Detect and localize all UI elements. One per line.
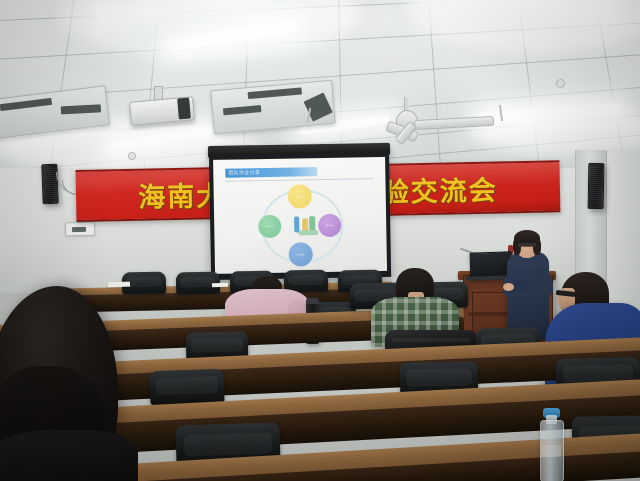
slide-title-text: 团队作业分享 — [225, 169, 260, 177]
projector-lens — [177, 98, 191, 120]
light-glow-4 — [470, 100, 640, 155]
water-bottle-label — [541, 445, 561, 457]
diagram-node-bottom: ••• — [289, 242, 313, 266]
illustration-base — [298, 230, 318, 235]
photo-scene: 海南大学土木 学经验交流会 团队作业分享 ••• ••• ••• ••• — [0, 0, 640, 481]
laptop-bag-zipper — [392, 338, 470, 342]
projection-screen: 团队作业分享 ••• ••• ••• ••• — [209, 152, 391, 280]
presenter-eyeglasses — [518, 243, 536, 247]
wall-control-plate[interactable] — [65, 222, 95, 237]
light-glow-2 — [410, 0, 640, 52]
slide-title-bar: 团队作业分享 — [225, 167, 317, 178]
paper-sheet-2 — [212, 283, 228, 288]
wall-speaker-left — [41, 164, 58, 205]
thermos-cap — [306, 298, 319, 304]
illustration-figure-3 — [309, 216, 315, 231]
wall-speaker-right — [588, 163, 605, 209]
student-foreground-shoulder — [0, 430, 138, 481]
presentation-slide: 团队作业分享 ••• ••• ••• ••• — [213, 157, 387, 274]
smoke-detector-1 — [556, 79, 565, 88]
paper-sheet-1 — [108, 282, 130, 288]
chair-row5-1[interactable] — [149, 369, 224, 406]
smoke-detector-2 — [128, 152, 136, 160]
presenter-hand — [503, 283, 514, 291]
slide-divider — [225, 178, 373, 182]
